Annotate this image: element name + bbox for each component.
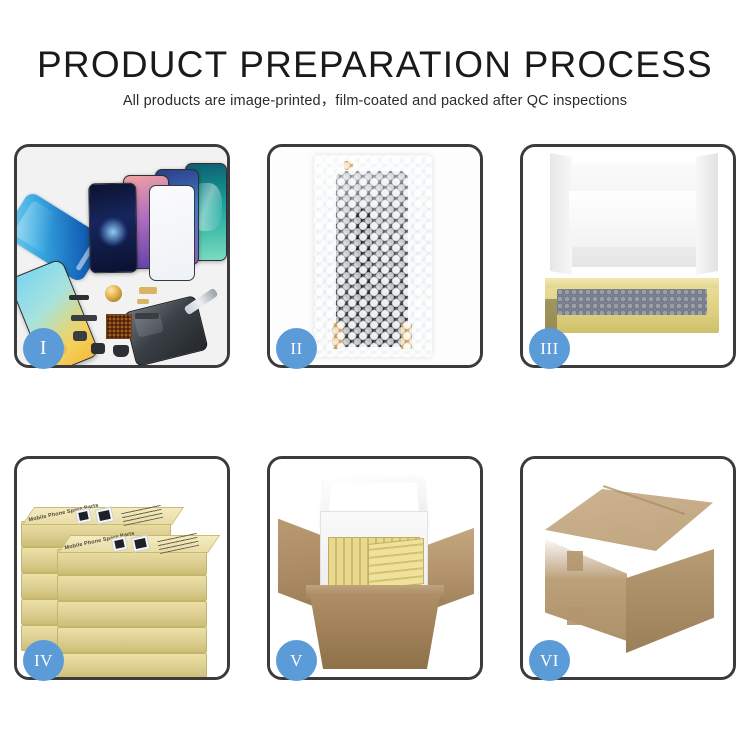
step-badge-6: VI xyxy=(529,640,570,681)
phone-fan-group xyxy=(89,161,227,273)
step-badge-3: III xyxy=(529,328,570,369)
gold-connector-icon xyxy=(139,287,157,294)
step-badge-4: IV xyxy=(23,640,64,681)
bubble-bag xyxy=(314,155,432,357)
page-title: PRODUCT PREPARATION PROCESS xyxy=(0,44,750,86)
carton-right-face xyxy=(626,549,714,653)
flex-cable-2-icon xyxy=(135,313,159,319)
box-item xyxy=(57,601,207,627)
step-panel-1: I xyxy=(14,144,230,368)
box-item: Mobile Phone Spare Parts xyxy=(57,549,207,575)
carton-top-face xyxy=(545,489,713,551)
process-step-grid: I II xyxy=(14,144,736,728)
step-panel-5: V xyxy=(267,456,483,680)
step-badge-2: II xyxy=(276,328,317,369)
step-panel-4: Mobile Phone Spare Parts Mobile Ph xyxy=(14,456,230,680)
carton-body xyxy=(310,595,440,669)
bubble-wrap-contents xyxy=(557,289,707,315)
bubble-texture-overlay xyxy=(314,155,432,357)
header: PRODUCT PREPARATION PROCESS All products… xyxy=(0,0,750,130)
product-preparation-infographic: PRODUCT PREPARATION PROCESS All products… xyxy=(0,0,750,750)
box-item xyxy=(57,575,207,601)
copper-shield-grid-icon xyxy=(106,314,132,339)
camera-module-icon xyxy=(91,343,105,354)
inner-boxes-row-2 xyxy=(368,538,424,590)
tempered-glass-icon xyxy=(149,185,195,281)
small-module-icon xyxy=(73,331,87,341)
gold-contact-icon xyxy=(137,299,149,304)
page-subtitle: All products are image-printed，film-coat… xyxy=(0,89,750,110)
flex-cable-icon xyxy=(71,315,97,321)
carton-left-face xyxy=(545,539,627,641)
step-panel-6: VI xyxy=(520,456,736,680)
box-item xyxy=(57,627,207,653)
chip-part-icon xyxy=(69,295,89,300)
phone-dark-icon xyxy=(88,183,138,274)
foam-lid xyxy=(559,163,709,267)
carton-tape-upper xyxy=(567,551,583,571)
box-item xyxy=(57,653,207,677)
step-badge-1: I xyxy=(23,328,64,369)
vibrator-icon xyxy=(113,345,129,357)
step-panel-2: II xyxy=(267,144,483,368)
carton-tape-lower xyxy=(567,607,583,625)
step-badge-5: V xyxy=(276,640,317,681)
speaker-coil-icon xyxy=(105,285,122,302)
step-panel-3: III xyxy=(520,144,736,368)
